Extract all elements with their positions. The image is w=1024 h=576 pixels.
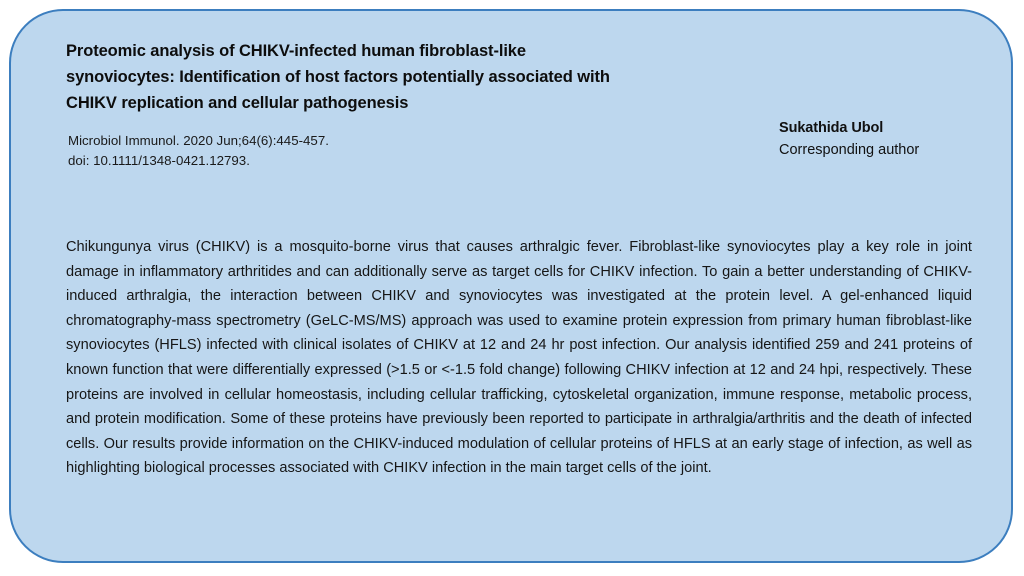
author-block: Sukathida Ubol Corresponding author [779,117,999,161]
author-name: Sukathida Ubol [779,117,999,139]
doi-citation: doi: 10.1111/1348-0421.12793. [68,151,708,171]
page-title: Proteomic analysis of CHIKV-infected hum… [66,38,726,116]
abstract-text: Chikungunya virus (CHIKV) is a mosquito-… [66,235,972,481]
citation-block: Microbiol Immunol. 2020 Jun;64(6):445-45… [68,131,708,171]
abstract-card: Proteomic analysis of CHIKV-infected hum… [9,9,1013,563]
title-line-2: synoviocytes: Identification of host fac… [66,64,726,90]
journal-citation: Microbiol Immunol. 2020 Jun;64(6):445-45… [68,131,708,151]
title-line-3: CHIKV replication and cellular pathogene… [66,90,726,116]
title-line-1: Proteomic analysis of CHIKV-infected hum… [66,38,726,64]
slide-canvas: Proteomic analysis of CHIKV-infected hum… [0,0,1024,576]
author-role: Corresponding author [779,139,999,161]
header-region: Proteomic analysis of CHIKV-infected hum… [11,11,1011,176]
